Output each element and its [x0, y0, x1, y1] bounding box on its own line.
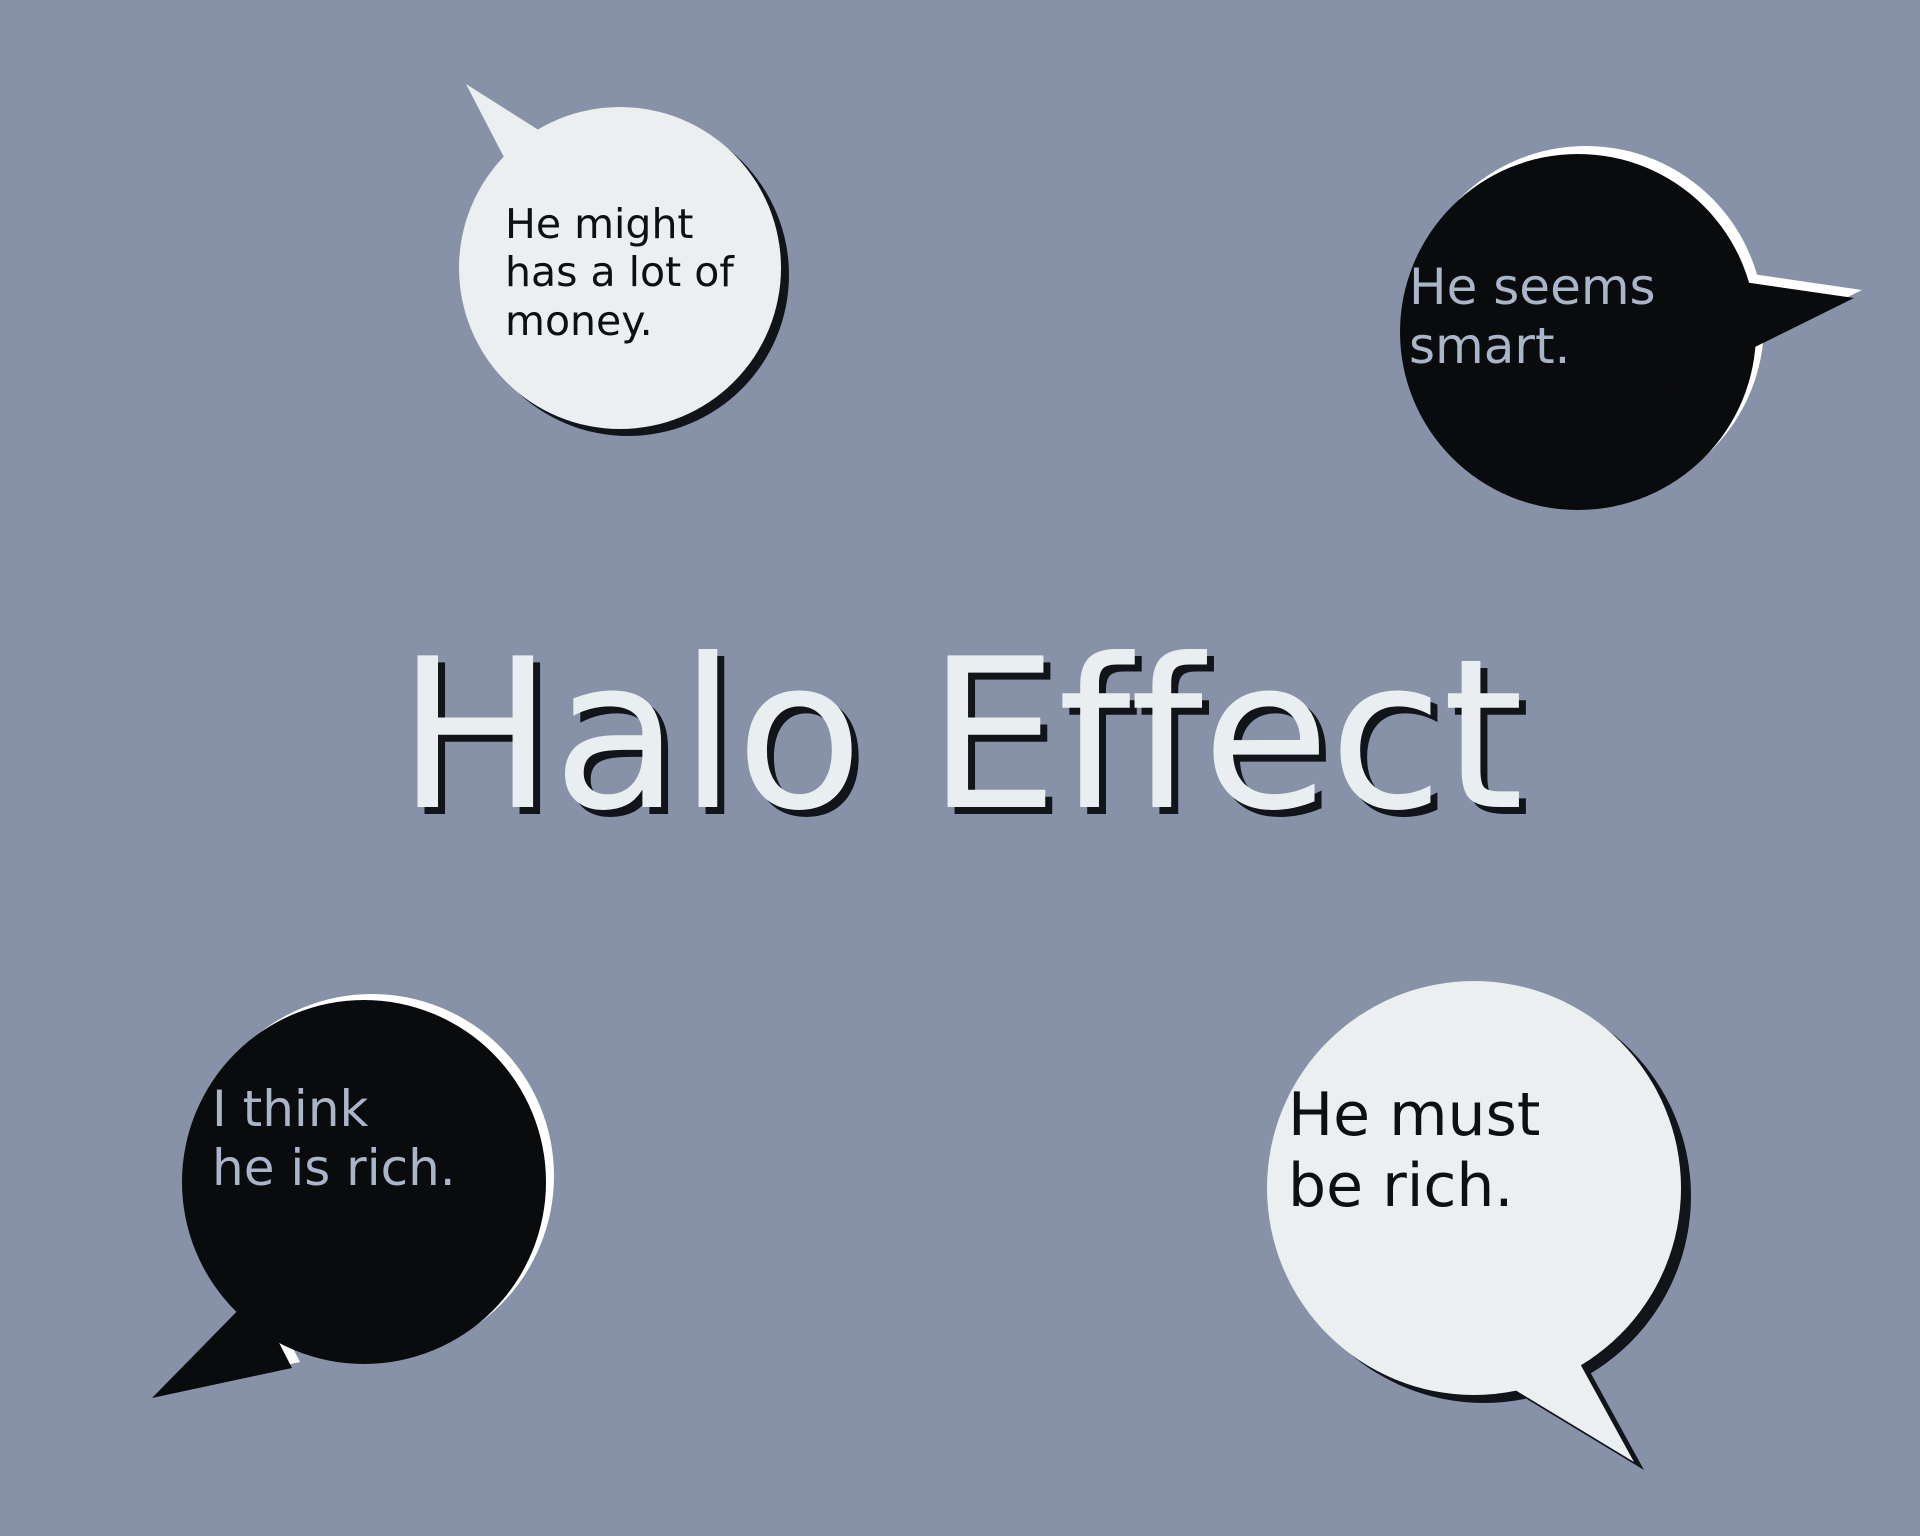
bubble-body-bottom-left	[152, 1000, 546, 1398]
infographic-canvas: He might has a lot of money. He seems sm…	[0, 0, 1920, 1536]
page-title: Halo Effect	[0, 632, 1920, 840]
speech-bubble-bottom-right[interactable]	[1267, 981, 1691, 1470]
speech-bubble-bottom-right-label: He must be rich.	[1288, 1080, 1540, 1222]
speech-bubble-top-right-label: He seems smart.	[1409, 258, 1656, 376]
speech-bubble-top-left-label: He might has a lot of money.	[505, 200, 734, 345]
speech-bubble-bottom-left-label: I think he is rich.	[212, 1080, 456, 1198]
